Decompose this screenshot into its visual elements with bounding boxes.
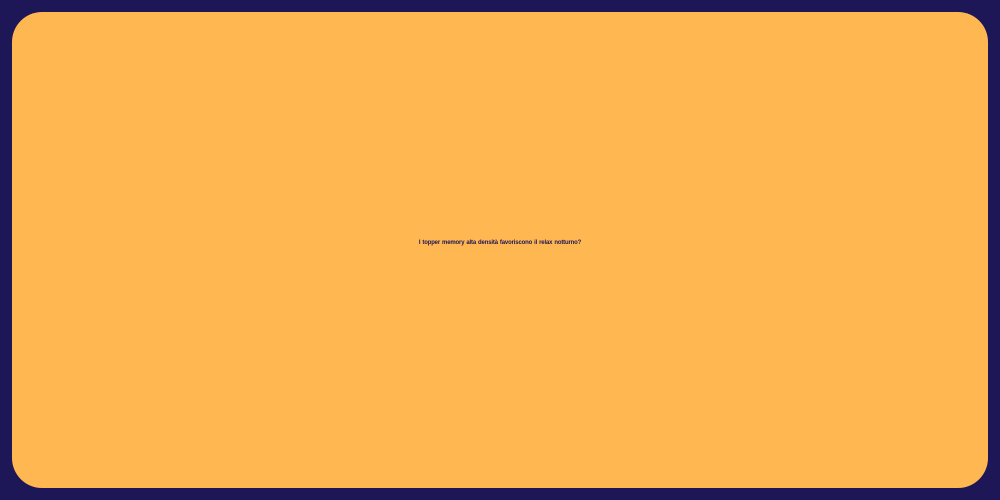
- headline-text: I topper memory alta densità favoriscono…: [51, 239, 949, 261]
- page-canvas: I topper memory alta densità favoriscono…: [0, 0, 1000, 500]
- headline-card: I topper memory alta densità favoriscono…: [12, 12, 988, 488]
